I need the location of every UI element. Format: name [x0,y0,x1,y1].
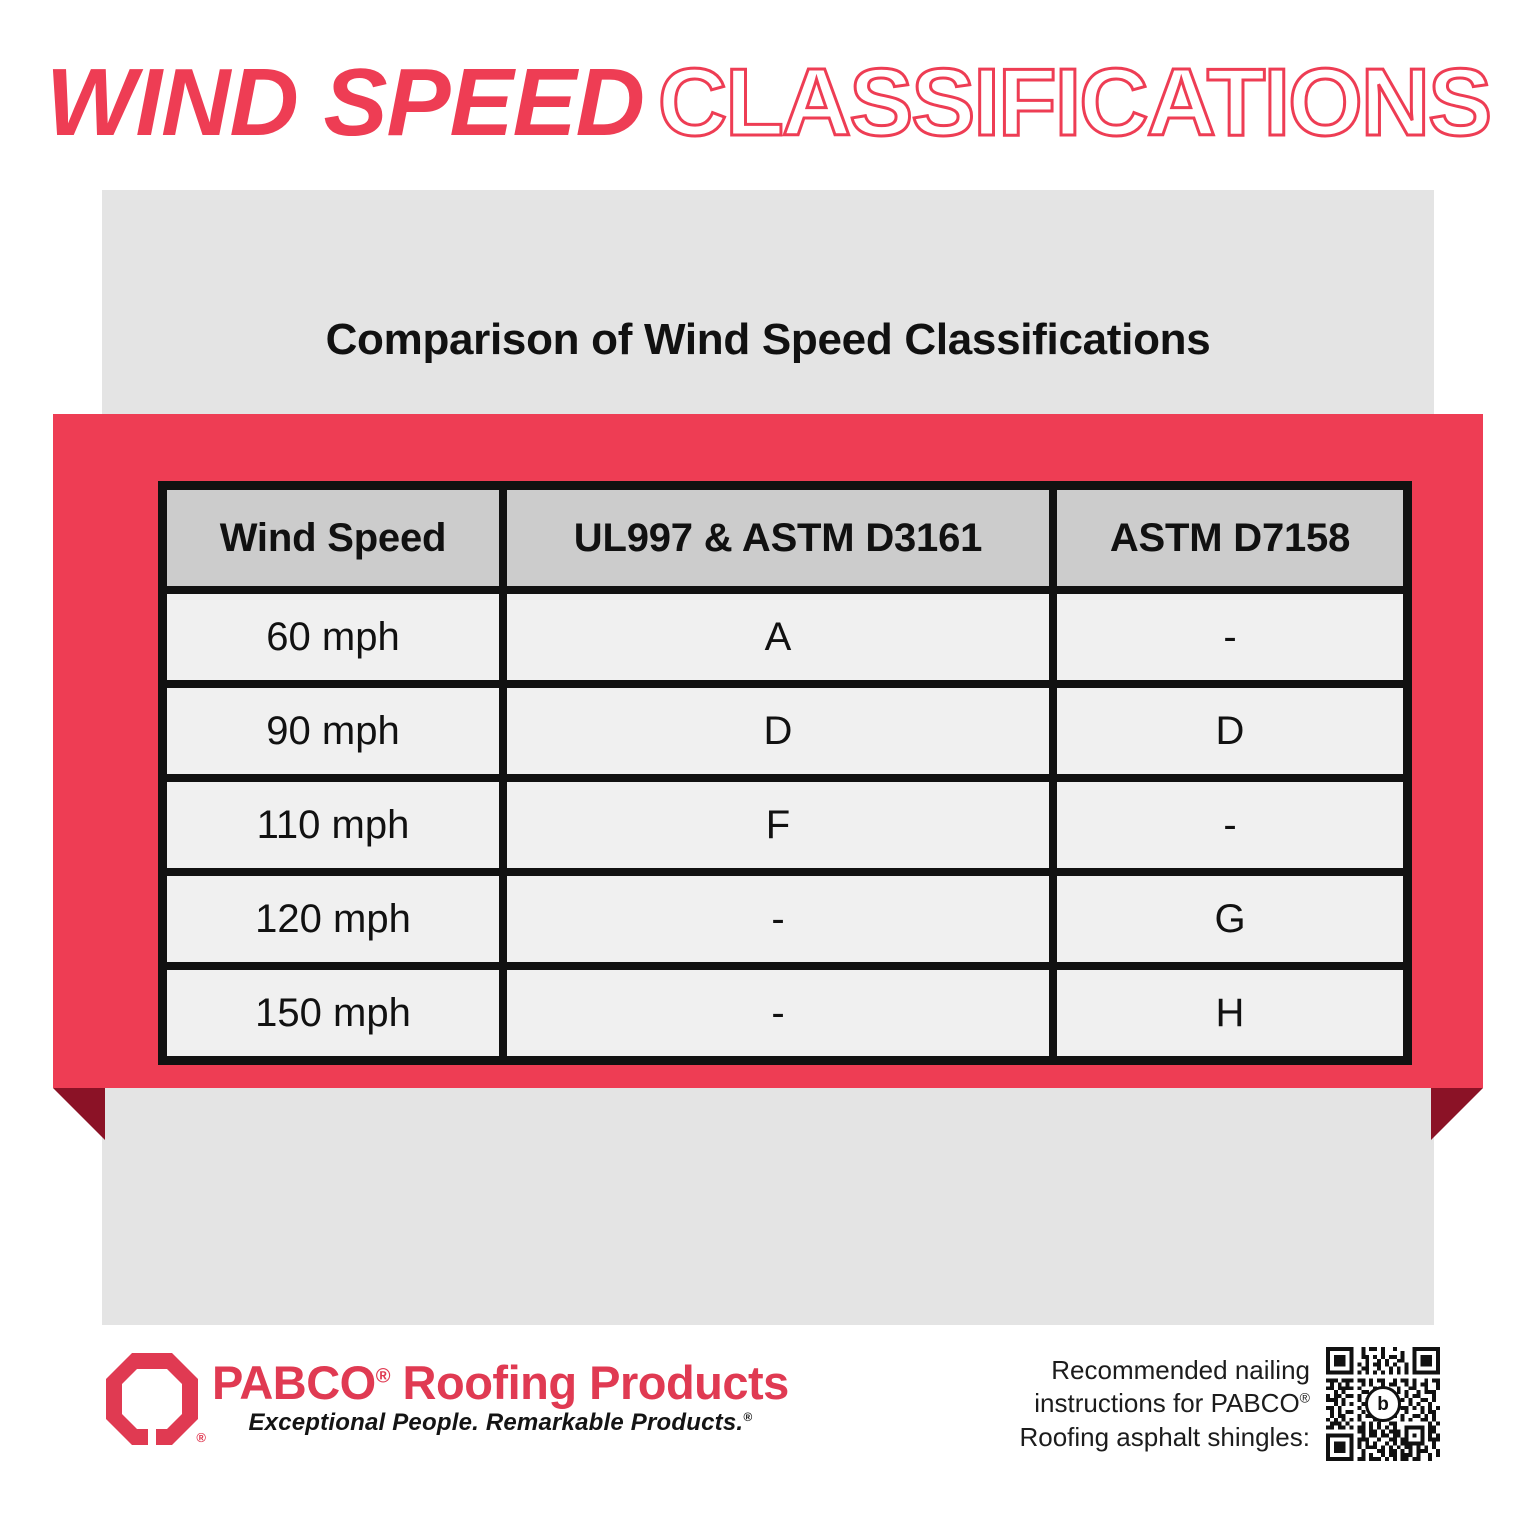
column-header-ul997-astm-d3161: UL997 & ASTM D3161 [503,486,1053,590]
logo-tagline-text: Exceptional People. Remarkable Products. [248,1409,743,1436]
qr-caption-line-1: Recommended nailing [1019,1354,1310,1387]
ribbon-fold-right [1431,1088,1483,1140]
cell-ul997-astm-d3161: - [503,966,1053,1060]
cell-wind-speed: 150 mph [163,966,503,1060]
page-title: WIND SPEED CLASSIFICATIONS [0,48,1536,158]
qr-block[interactable]: Recommended nailing instructions for PAB… [1019,1347,1440,1461]
logo-text-block: PABCO® Roofing Products Exceptional Peop… [212,1351,789,1437]
cell-astm-d7158: H [1053,966,1407,1060]
qr-code-icon[interactable]: b [1326,1347,1440,1461]
table-row: 110 mph F - [163,778,1407,872]
logo-wordmark-pabco: PABCO [212,1356,376,1409]
cell-ul997-astm-d3161: A [503,590,1053,684]
pabco-logo: ® PABCO® Roofing Products Exceptional Pe… [104,1351,789,1447]
cell-astm-d7158: - [1053,778,1407,872]
qr-caption-line-2-text: instructions for PABCO [1034,1388,1299,1418]
table-row: 60 mph A - [163,590,1407,684]
cell-astm-d7158: D [1053,684,1407,778]
pabco-octagon-logo-icon: ® [104,1351,200,1447]
cell-astm-d7158: - [1053,590,1407,684]
cell-wind-speed: 120 mph [163,872,503,966]
logo-wordmark: PABCO® Roofing Products [212,1359,789,1407]
column-header-wind-speed: Wind Speed [163,486,503,590]
qr-caption-registered: ® [1300,1390,1310,1406]
footer: ® PABCO® Roofing Products Exceptional Pe… [0,1345,1536,1485]
cell-ul997-astm-d3161: - [503,872,1053,966]
cell-ul997-astm-d3161: D [503,684,1053,778]
page-title-outline: CLASSIFICATIONS [658,55,1490,151]
cell-ul997-astm-d3161: F [503,778,1053,872]
qr-caption-line-3: Roofing asphalt shingles: [1019,1421,1310,1454]
wind-speed-classification-table: Wind Speed UL997 & ASTM D3161 ASTM D7158… [158,481,1412,1065]
cell-wind-speed: 60 mph [163,590,503,684]
logo-registered-mark: ® [196,1430,206,1445]
cell-astm-d7158: G [1053,872,1407,966]
table-row: 120 mph - G [163,872,1407,966]
page-title-solid: WIND SPEED [46,55,644,151]
table-row: 150 mph - H [163,966,1407,1060]
logo-wordmark-registered: ® [376,1365,390,1387]
qr-center-badge-icon: b [1365,1386,1401,1422]
qr-caption: Recommended nailing instructions for PAB… [1019,1354,1310,1454]
logo-tagline: Exceptional People. Remarkable Products.… [212,1409,789,1437]
qr-caption-line-2: instructions for PABCO® [1019,1387,1310,1420]
ribbon-fold-left [53,1088,105,1140]
table-header-row: Wind Speed UL997 & ASTM D3161 ASTM D7158 [163,486,1407,590]
logo-tagline-registered: ® [743,1410,752,1424]
section-subtitle: Comparison of Wind Speed Classifications [102,315,1434,365]
cell-wind-speed: 110 mph [163,778,503,872]
column-header-astm-d7158: ASTM D7158 [1053,486,1407,590]
cell-wind-speed: 90 mph [163,684,503,778]
logo-wordmark-suffix: Roofing Products [390,1356,789,1409]
table-row: 90 mph D D [163,684,1407,778]
